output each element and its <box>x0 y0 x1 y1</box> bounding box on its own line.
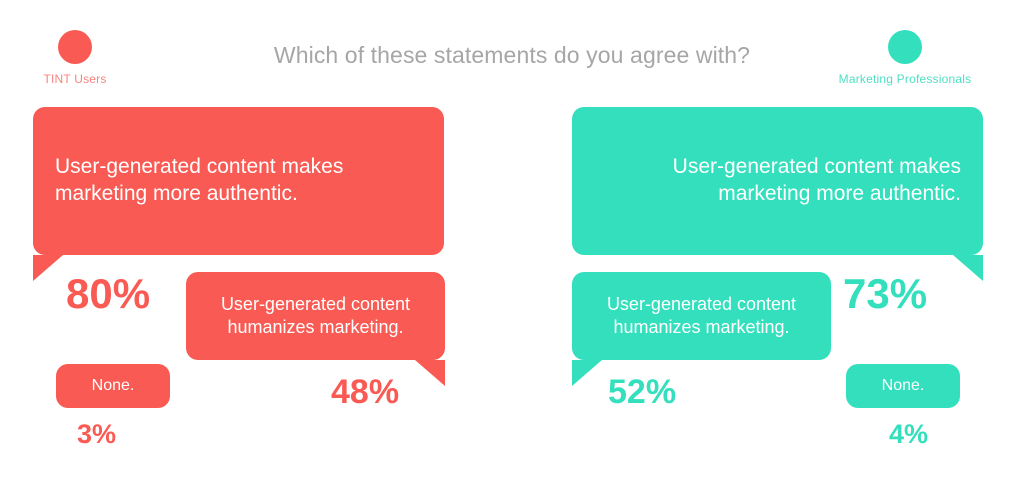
statement-bubble-tint-authentic: User-generated content makes marketing m… <box>33 107 444 255</box>
bubble-tail-icon <box>938 408 960 426</box>
statement-bubble-pros-humanizes: User-generated content humanizes marketi… <box>572 272 831 360</box>
bubble-tail-icon <box>572 360 602 386</box>
value-label-pros-none: 4% <box>889 419 928 450</box>
value-label-tint-humanizes: 48% <box>331 373 399 412</box>
statement-text: User-generated content humanizes marketi… <box>186 293 445 339</box>
value-label-pros-authentic: 73% <box>843 270 927 318</box>
statement-text: None. <box>56 376 170 396</box>
chart-title: Which of these statements do you agree w… <box>0 42 1024 69</box>
bubble-tail-icon <box>415 360 445 386</box>
statement-text: User-generated content makes marketing m… <box>33 154 444 208</box>
bubble-tail-icon <box>56 408 78 426</box>
value-label-pros-humanizes: 52% <box>608 373 676 412</box>
statement-bubble-tint-humanizes: User-generated content humanizes marketi… <box>186 272 445 360</box>
statement-bubble-pros-none: None. <box>846 364 960 408</box>
statement-text: User-generated content makes marketing m… <box>572 154 983 208</box>
statement-text: User-generated content humanizes marketi… <box>572 293 831 339</box>
legend-label-tint-users: TINT Users <box>43 72 106 86</box>
value-label-tint-authentic: 80% <box>66 270 150 318</box>
statement-text: None. <box>846 376 960 396</box>
legend-label-marketing-professionals: Marketing Professionals <box>839 72 972 86</box>
statement-bubble-tint-none: None. <box>56 364 170 408</box>
statement-bubble-pros-authentic: User-generated content makes marketing m… <box>572 107 983 255</box>
value-label-tint-none: 3% <box>77 419 116 450</box>
infographic-root: TINT Users Marketing Professionals Which… <box>0 0 1024 500</box>
bubble-tail-icon <box>33 255 63 281</box>
bubble-tail-icon <box>953 255 983 281</box>
